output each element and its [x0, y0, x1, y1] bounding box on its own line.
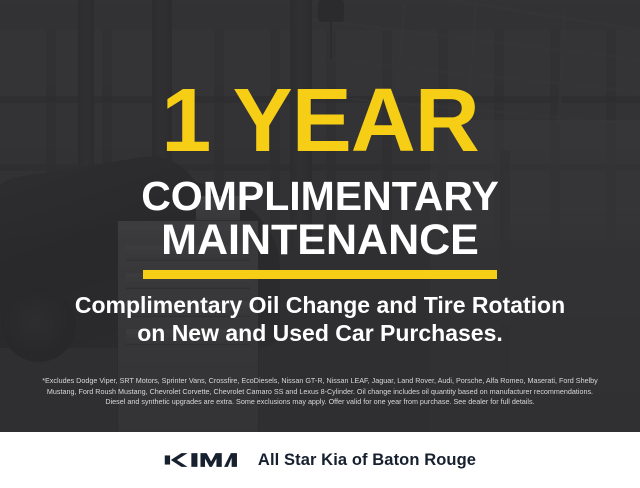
disclaimer-line-3: Diesel and synthetic upgrades are extra.… [14, 397, 626, 408]
promo-banner: 1 YEAR COMPLIMENTARY MAINTENANCE Complim… [0, 0, 640, 488]
footer-bar: All Star Kia of Baton Rouge [0, 432, 640, 488]
promo-description-line-1: Complimentary Oil Change and Tire Rotati… [0, 292, 640, 318]
footer-brand-group: All Star Kia of Baton Rouge [164, 450, 476, 470]
disclaimer-line-1: *Excludes Dodge Viper, SRT Motors, Sprin… [14, 376, 626, 387]
headline-year: 1 YEAR [0, 76, 640, 166]
dealer-name: All Star Kia of Baton Rouge [258, 451, 476, 470]
disclaimer-line-2: Mustang, Ford Roush Mustang, Chevrolet C… [14, 387, 626, 398]
yellow-divider [143, 270, 497, 279]
kia-logo-icon [164, 450, 240, 470]
banner-content: 1 YEAR COMPLIMENTARY MAINTENANCE Complim… [0, 0, 640, 488]
headline-complimentary: COMPLIMENTARY [0, 176, 640, 217]
disclaimer-text: *Excludes Dodge Viper, SRT Motors, Sprin… [14, 376, 626, 408]
promo-description-line-2: on New and Used Car Purchases. [0, 320, 640, 346]
headline-maintenance: MAINTENANCE [0, 219, 640, 262]
